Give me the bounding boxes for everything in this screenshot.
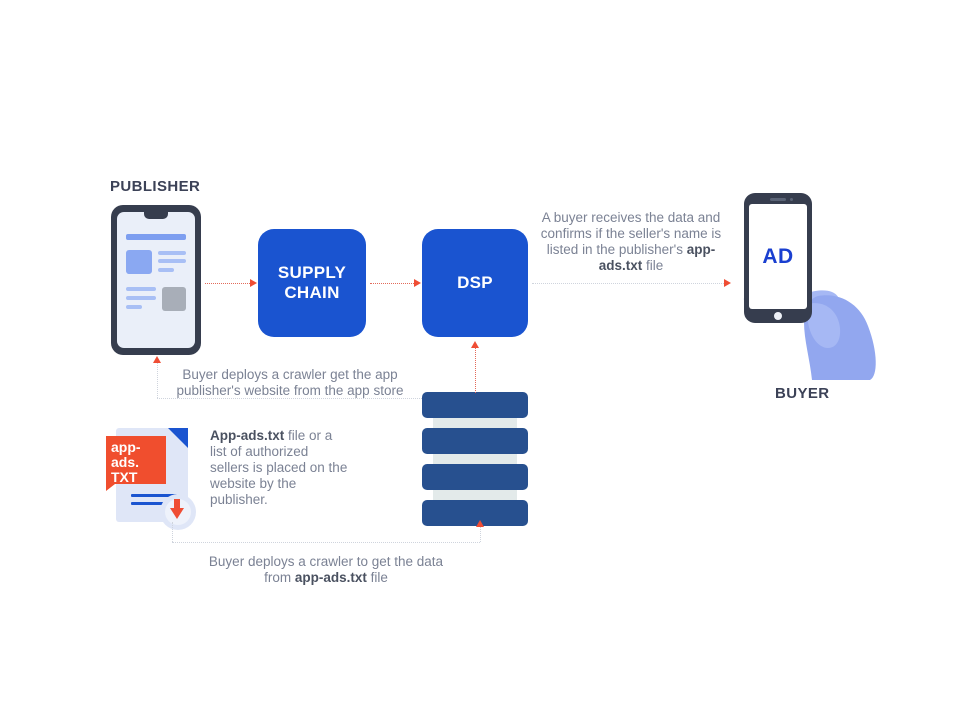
buyer-label: BUYER — [775, 385, 830, 402]
note-appads-description: App-ads.txt file or a list of authorized… — [210, 428, 350, 508]
download-arrow-icon — [170, 499, 184, 519]
doc-tag-line-1: app- — [111, 440, 166, 455]
doc-tag-line-3: TXT — [111, 470, 166, 485]
content-bar — [158, 251, 186, 255]
stack-slab — [422, 464, 528, 490]
content-image-placeholder — [162, 287, 186, 311]
note-crawler-post: file — [367, 570, 388, 585]
note-crawler-website: Buyer deploys a crawler get the app publ… — [160, 367, 420, 399]
connector-phone-to-supply-chain — [205, 283, 250, 284]
phone-speaker-icon — [770, 198, 786, 201]
note-buyer-receives: A buyer receives the data and confirms i… — [533, 210, 729, 274]
supply-chain-line-2: CHAIN — [278, 283, 346, 303]
document-tag-icon: app- ads. TXT — [106, 436, 166, 484]
dsp-node[interactable]: DSP — [422, 229, 528, 337]
publisher-phone-screen — [117, 212, 195, 348]
buyer-phone: AD — [744, 193, 812, 323]
content-bar — [126, 234, 186, 240]
connector-doc-vertical — [172, 522, 173, 542]
content-bar — [158, 268, 174, 272]
arrow-into-dsp-from-stack — [471, 341, 479, 348]
connector-dsp-to-buyer — [532, 283, 724, 284]
content-bar — [126, 305, 142, 309]
connector-supply-chain-to-dsp — [370, 283, 414, 284]
supply-chain-node[interactable]: SUPPLY CHAIN — [258, 229, 366, 337]
connector-bottom-up-vertical — [480, 527, 481, 542]
arrow-into-stack-bottom — [476, 520, 484, 527]
arrow-into-supply-chain — [250, 279, 257, 287]
content-block — [126, 250, 152, 274]
diagram-canvas: PUBLISHER SUPPLY CHAIN DSP — [0, 0, 960, 720]
connector-crawler-vertical — [157, 363, 158, 398]
phone-notch-icon — [144, 212, 168, 219]
arrow-into-publisher-phone — [153, 356, 161, 363]
phone-camera-icon — [790, 198, 793, 201]
content-bar — [158, 259, 186, 263]
connector-bottom-horizontal — [172, 542, 480, 543]
note-buyer-post: file — [642, 258, 663, 273]
arrow-into-buyer-phone — [724, 279, 731, 287]
data-server-stack — [422, 392, 528, 526]
note-crawler-data: Buyer deploys a crawler to get the data … — [200, 554, 452, 586]
phone-home-button-icon — [774, 312, 782, 320]
app-ads-txt-document-icon: app- ads. TXT — [116, 428, 188, 522]
note-appads-bold: App-ads.txt — [210, 428, 284, 443]
stack-slab — [422, 392, 528, 418]
stack-slab — [422, 428, 528, 454]
note-crawler-bold: app-ads.txt — [295, 570, 367, 585]
dsp-label: DSP — [457, 273, 493, 293]
publisher-label: PUBLISHER — [110, 178, 200, 195]
ad-label: AD — [762, 245, 793, 269]
publisher-phone — [111, 205, 201, 355]
document-tag-tail-icon — [106, 484, 115, 491]
doc-tag-line-2: ads. — [111, 455, 166, 470]
arrow-into-dsp — [414, 279, 421, 287]
content-bar — [126, 287, 156, 291]
buyer-phone-screen: AD — [749, 204, 807, 309]
document-fold-icon — [168, 428, 188, 448]
content-bar — [126, 296, 156, 300]
supply-chain-line-1: SUPPLY — [278, 263, 346, 283]
connector-stack-to-dsp — [475, 348, 476, 393]
